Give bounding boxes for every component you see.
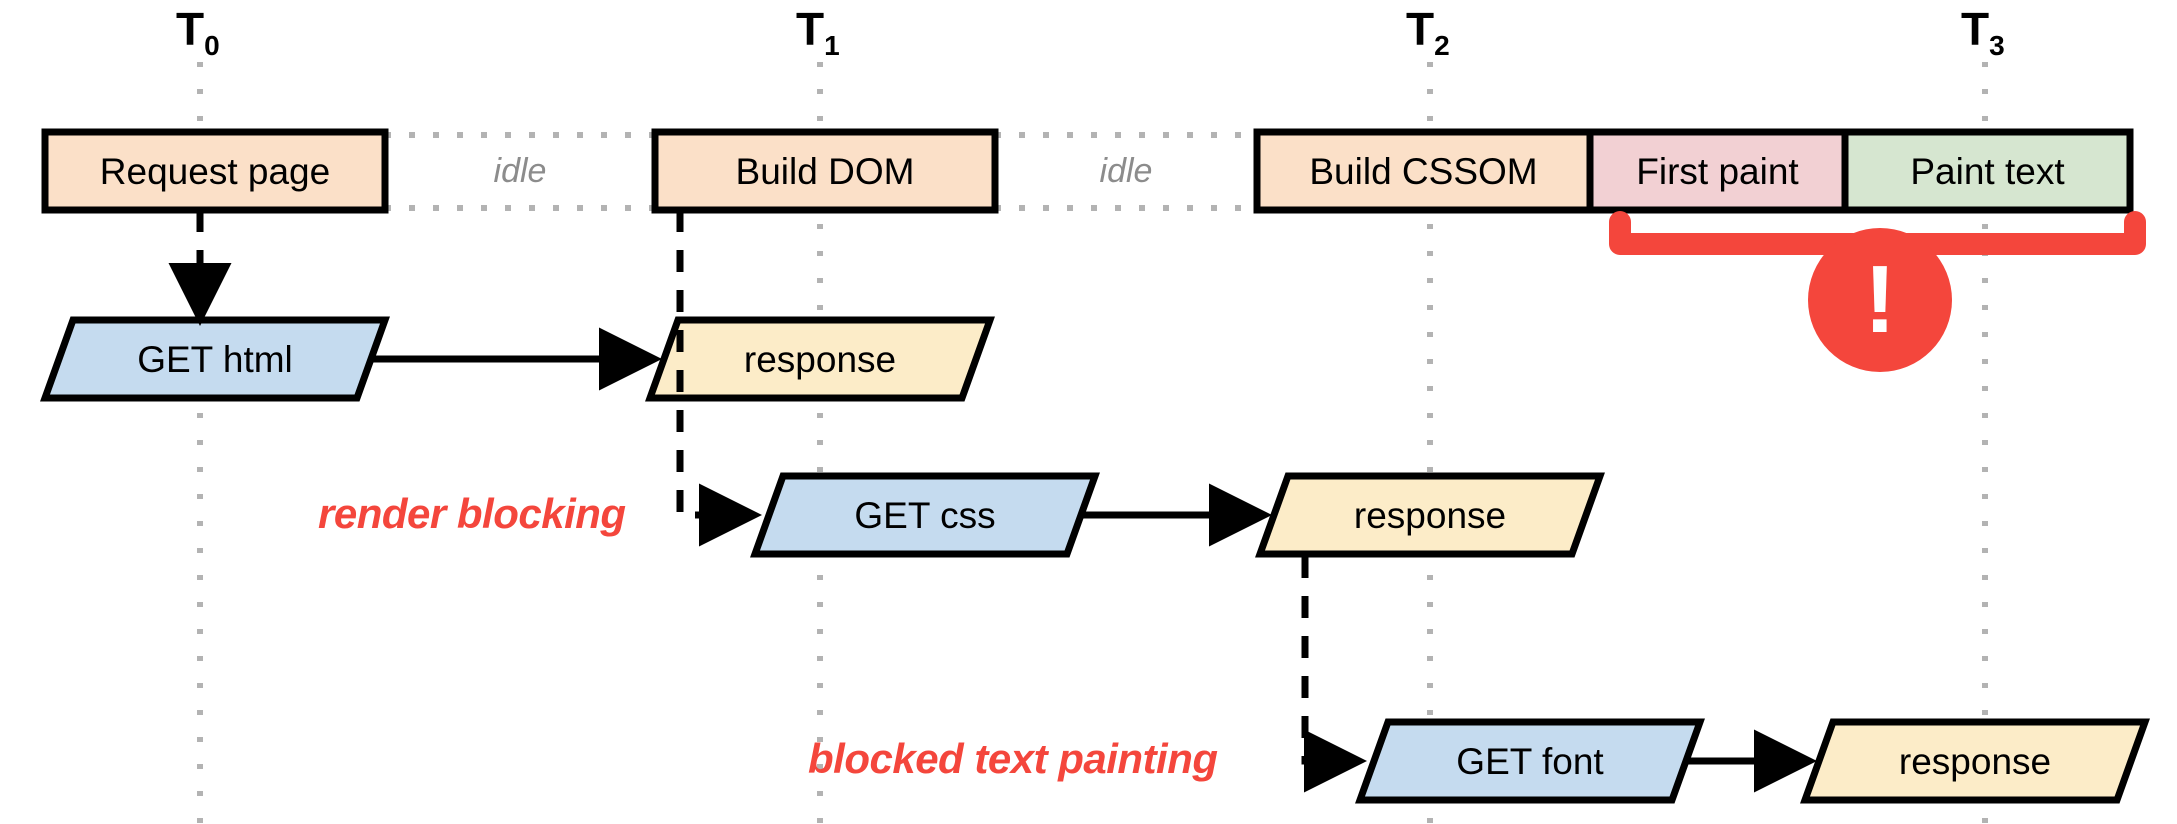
timeline-label-paint-text: Paint text	[1845, 132, 2130, 210]
time-marker-t1-label: T	[796, 3, 824, 55]
flow-arrows	[371, 359, 1803, 761]
time-marker-t2: T2	[1406, 2, 1450, 62]
time-marker-t0: T0	[176, 2, 220, 62]
timeline-label-first-paint: First paint	[1590, 132, 1845, 210]
time-marker-t1: T1	[796, 2, 840, 62]
time-marker-t2-sub: 2	[1434, 30, 1450, 61]
network-label-get-font: GET font	[1360, 722, 1700, 800]
dep-response-css-to-get-font	[1305, 556, 1353, 761]
network-label-get-html: GET html	[45, 320, 385, 398]
time-marker-t0-label: T	[176, 3, 204, 55]
network-label-response-font: response	[1805, 722, 2145, 800]
timeline-label-build-cssom: Build CSSOM	[1257, 132, 1590, 210]
diagram-canvas: T0 T1 T2 T3 Request page idle Build DOM …	[0, 0, 2177, 824]
timeline-label-request-page: Request page	[45, 132, 385, 210]
network-label-get-css: GET css	[755, 476, 1095, 554]
timeline-label-idle-2: idle	[995, 132, 1257, 210]
time-marker-t3-label: T	[1961, 3, 1989, 55]
time-marker-t3-sub: 3	[1989, 30, 2005, 61]
diagram-vector-layer	[0, 0, 2177, 824]
time-marker-t0-sub: 0	[204, 30, 220, 61]
timeline-label-idle-1: idle	[385, 132, 655, 210]
network-label-response-html: response	[650, 320, 990, 398]
alert-exclamation-icon: !	[1808, 228, 1952, 372]
time-marker-t3: T3	[1961, 2, 2005, 62]
time-marker-t2-label: T	[1406, 3, 1434, 55]
annotation-render-blocking: render blocking	[318, 490, 626, 538]
timeline-label-build-dom: Build DOM	[655, 132, 995, 210]
network-label-response-css: response	[1260, 476, 1600, 554]
annotation-blocked-text-painting: blocked text painting	[808, 735, 1218, 783]
time-marker-t1-sub: 1	[824, 30, 840, 61]
